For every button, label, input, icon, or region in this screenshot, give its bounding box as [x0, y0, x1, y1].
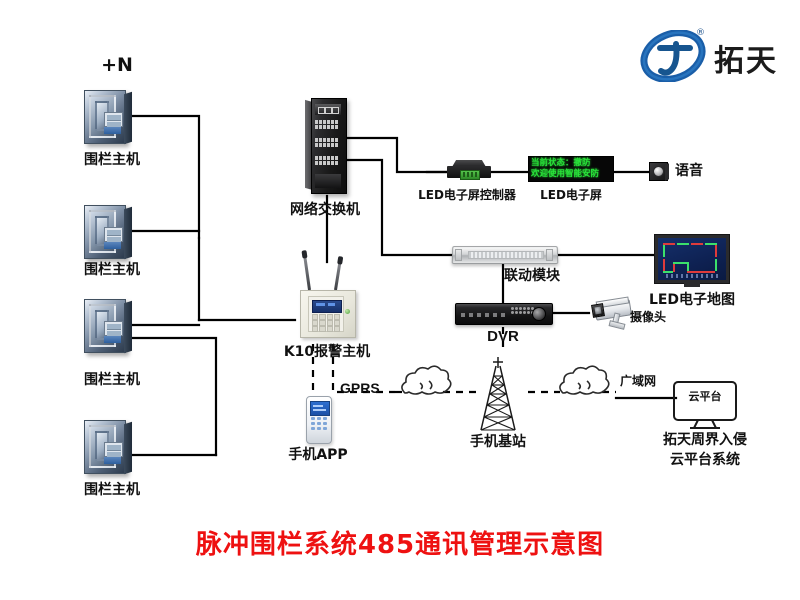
cloud-platform-screen-label: 云平台	[689, 390, 722, 404]
cloud-platform-caption-1: 拓天周界入侵	[663, 432, 747, 450]
network-switch-label: 网络交换机	[290, 202, 360, 220]
fence-host-4-label: 围栏主机	[84, 482, 140, 500]
monitor-icon	[674, 382, 736, 428]
led-map-icon[interactable]	[654, 234, 730, 288]
fence-host-3-label: 围栏主机	[84, 372, 140, 390]
led-map-label: LED电子地图	[649, 292, 735, 310]
k10-host-label: K10报警主机	[284, 344, 370, 362]
brand-logo: ® 拓天	[640, 30, 780, 84]
cloud-platform-caption-2: 云平台系统	[670, 452, 740, 470]
plus-n-marker: +N	[101, 54, 133, 78]
diagram-canvas: ® 拓天 +N 围栏主机 围栏主机 围栏主机 围栏主机	[0, 0, 800, 600]
led-screen-line-1: 当前状态：撤防	[531, 158, 611, 169]
linkage-module-label: 联动模块	[504, 268, 560, 286]
phone-app-label: 手机APP	[288, 447, 347, 465]
camera-label: 摄像头	[630, 310, 666, 325]
smartphone-icon[interactable]	[306, 396, 330, 442]
voice-label: 语音	[675, 163, 703, 181]
network-switch-icon[interactable]	[305, 98, 353, 194]
led-controller-label: LED电子屏控制器	[418, 188, 516, 203]
dvr-icon[interactable]	[455, 303, 551, 325]
camera-icon[interactable]	[589, 298, 633, 328]
base-station-label: 手机基站	[470, 434, 526, 452]
rack-module-icon[interactable]	[452, 246, 556, 264]
cloud-icon-left	[402, 366, 451, 394]
brand-name: 拓天	[714, 36, 778, 80]
page-title: 脉冲围栏系统485通讯管理示意图	[196, 524, 604, 561]
fence-host-icon[interactable]	[80, 88, 132, 146]
led-controller-icon[interactable]	[447, 160, 491, 182]
fence-host-2-label: 围栏主机	[84, 262, 140, 280]
led-screen-label: LED电子屏	[540, 188, 602, 203]
fence-host-icon[interactable]	[80, 203, 132, 261]
led-screen-icon[interactable]: 当前状态：撤防 欢迎使用智能安防	[528, 156, 614, 182]
dvr-label: DVR	[487, 328, 519, 347]
led-screen-line-2: 欢迎使用智能安防	[531, 169, 611, 180]
fence-host-icon[interactable]	[80, 297, 132, 355]
cloud-icon-right	[560, 366, 609, 394]
wan-label: 广域网	[620, 374, 656, 389]
fence-host-icon[interactable]	[80, 418, 132, 476]
cell-tower-icon	[481, 357, 515, 430]
gprs-label: GPRS	[340, 380, 380, 398]
fence-host-1-label: 围栏主机	[84, 152, 140, 170]
speaker-icon[interactable]	[649, 162, 669, 180]
alarm-host-icon[interactable]	[296, 260, 358, 336]
registered-mark: ®	[696, 28, 705, 38]
